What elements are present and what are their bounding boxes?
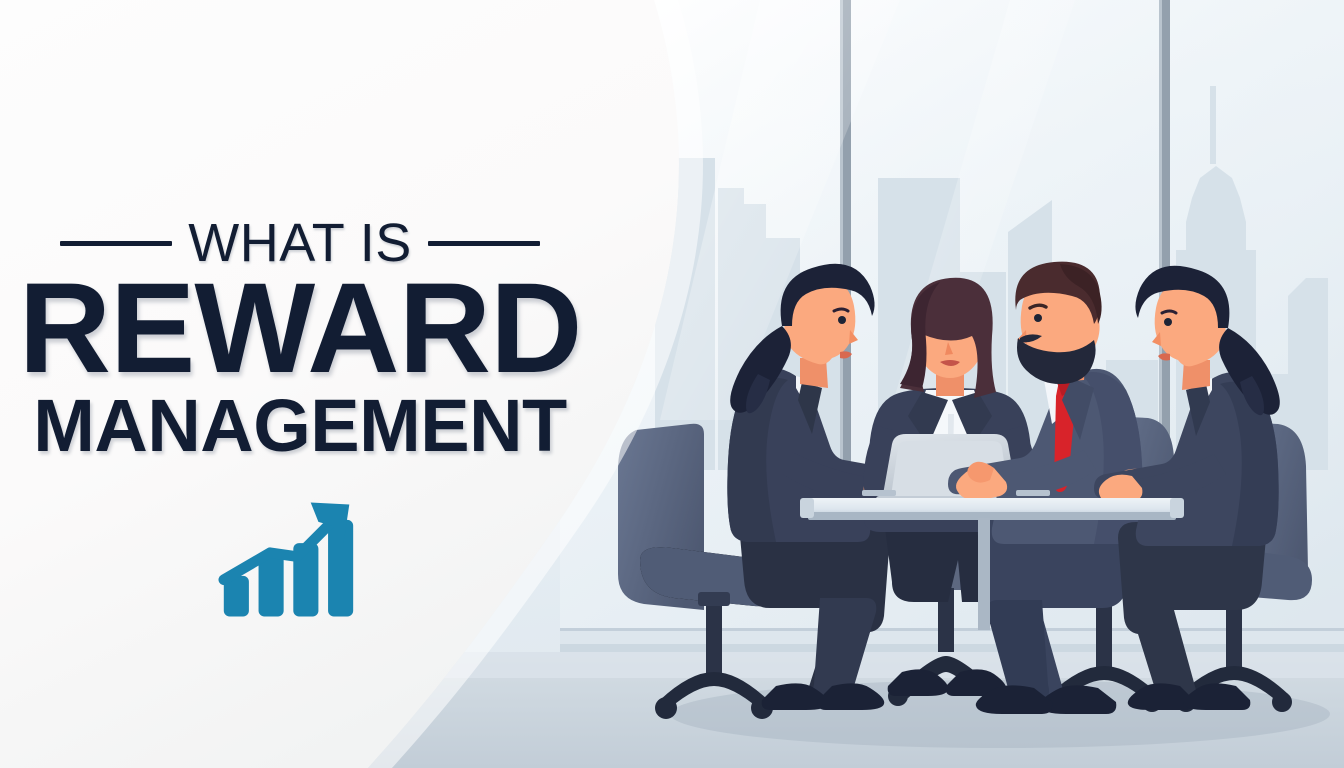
curved-white-panel <box>0 0 1344 768</box>
panel-shape <box>0 0 679 768</box>
poster-canvas: WHAT IS REWARD MANAGEMENT <box>0 0 1344 768</box>
